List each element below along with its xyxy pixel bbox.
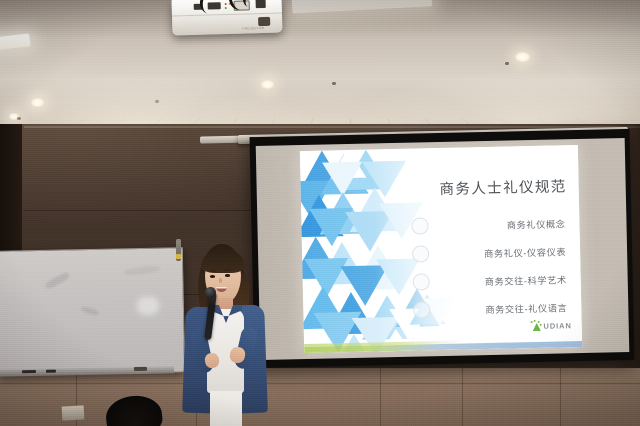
ceiling-lighting-falloff <box>0 0 640 128</box>
lecture-room-scene: PROJECTOR <box>0 0 640 426</box>
whiteboard-marker[interactable] <box>22 370 36 373</box>
whiteboard-marker[interactable] <box>46 370 56 373</box>
projector-lens <box>258 17 270 26</box>
whiteboard <box>0 247 185 376</box>
bullet-ring-icon <box>413 301 430 318</box>
slide-bullet-label: 商务交往-科学艺术 <box>485 272 567 288</box>
ceiling-projector: PROJECTOR <box>172 0 283 36</box>
screen-surface: 商务人士礼仪规范 商务礼仪概念 商务礼仪-仪容仪表 商务交往-科学艺术 <box>256 138 630 360</box>
wall-panel-seam <box>462 368 463 426</box>
bullet-ring-icon <box>413 273 430 290</box>
whiteboard-glare <box>137 297 159 315</box>
whiteboard-smudge <box>124 265 161 276</box>
projected-slide: 商务人士礼仪规范 商务礼仪概念 商务礼仪-仪容仪表 商务交往-科学艺术 <box>300 145 582 353</box>
whiteboard-smudge <box>81 306 100 317</box>
slide-bullet-label: 商务礼仪-仪容仪表 <box>484 244 566 260</box>
presenter-nose <box>219 278 222 283</box>
wall-panel-seam <box>560 368 561 426</box>
slide-bullet-item: 商务交往-科学艺术 <box>376 265 567 297</box>
wall-panel-seam <box>380 368 381 426</box>
projection-screen: 商务人士礼仪规范 商务礼仪概念 商务礼仪-仪容仪表 商务交往-科学艺术 <box>250 129 635 368</box>
bullet-ring-icon <box>412 245 429 262</box>
presenter-trousers <box>210 391 242 426</box>
whiteboard-eraser[interactable] <box>134 367 147 371</box>
presenter-eye <box>210 275 215 278</box>
slide-bullet-item: 商务礼仪概念 <box>375 209 566 241</box>
slide-bullet-list: 商务礼仪概念 商务礼仪-仪容仪表 商务交往-科学艺术 商务交往-礼仪语言 <box>375 209 567 325</box>
projector-indicator <box>225 7 227 9</box>
presenter-eye <box>225 274 230 277</box>
ceiling <box>0 0 640 128</box>
slide-bullet-item: 商务礼仪-仪容仪表 <box>376 237 567 269</box>
lower-wall-panels <box>0 368 640 426</box>
slide-bullet-label: 商务交往-礼仪语言 <box>485 300 567 316</box>
projector-indicator <box>225 3 227 5</box>
audience-desk-paper <box>62 405 85 420</box>
slide-bullet-label: 商务礼仪概念 <box>507 216 566 231</box>
whiteboard-smudge <box>44 271 71 291</box>
presenter <box>172 243 282 426</box>
bullet-ring-icon <box>411 217 428 234</box>
wall-seam <box>24 210 254 211</box>
wall-panel-seam <box>0 383 640 384</box>
slide-title: 商务人士礼仪规范 <box>439 175 567 199</box>
projector-model-label: PROJECTOR <box>242 26 264 31</box>
leaf-icon <box>530 321 541 331</box>
slide-brand-logo: UDIAN <box>530 320 571 331</box>
slide-brand-name: UDIAN <box>543 321 571 331</box>
leaf-shape <box>532 323 540 331</box>
